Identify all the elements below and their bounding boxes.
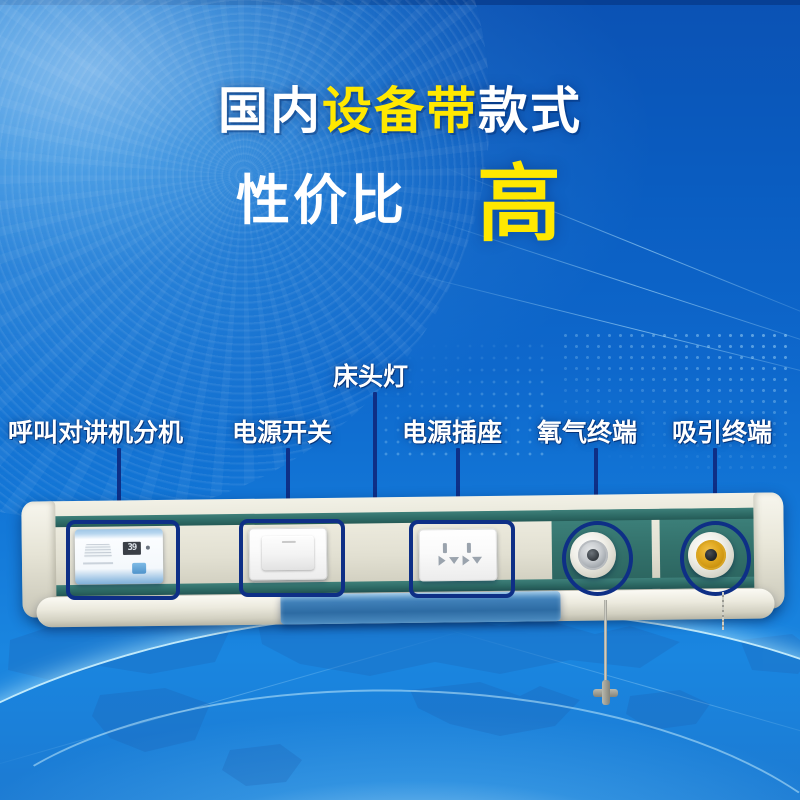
- headline-text-value-ratio: 性价比: [236, 174, 407, 228]
- highlight-box-power-switch: [239, 519, 345, 597]
- callout-label-oxygen-terminal: 氧气终端: [537, 413, 637, 449]
- callout-label-bed-lamp: 床头灯: [333, 357, 408, 393]
- callout-label-call-intercom: 呼叫对讲机分机: [8, 413, 183, 449]
- headline-text-domestic: 国内: [218, 82, 322, 140]
- callout-label-power-outlet: 电源插座: [402, 413, 502, 449]
- connector-stem-icon: [602, 680, 610, 705]
- callout-label-power-switch: 电源开关: [232, 413, 332, 449]
- cable-connector-tip: [593, 680, 618, 705]
- headline-line-2: 性价比高: [0, 162, 800, 246]
- highlight-box-call-intercom: [66, 520, 180, 600]
- hanging-cable: [604, 600, 607, 686]
- highlight-ring-oxygen-terminal: [562, 521, 633, 596]
- suction-terminal-cord: [722, 592, 724, 630]
- highlight-ring-suction-terminal: [680, 521, 751, 596]
- highlight-box-power-outlet: [409, 520, 515, 598]
- headline-line-1: 国内设备带款式: [0, 86, 800, 136]
- headline-text-style: 款式: [478, 82, 582, 140]
- headline-text-high: 高: [477, 155, 564, 253]
- product-promo-image: 国内设备带款式 性价比高 呼叫对讲机分机 电源开关 床头灯 电源插座 氧气终端 …: [0, 0, 800, 800]
- headline-block: 国内设备带款式 性价比高: [0, 86, 800, 246]
- callout-label-suction-terminal: 吸引终端: [672, 413, 772, 449]
- headline-text-equipment-belt: 设备带: [322, 82, 478, 140]
